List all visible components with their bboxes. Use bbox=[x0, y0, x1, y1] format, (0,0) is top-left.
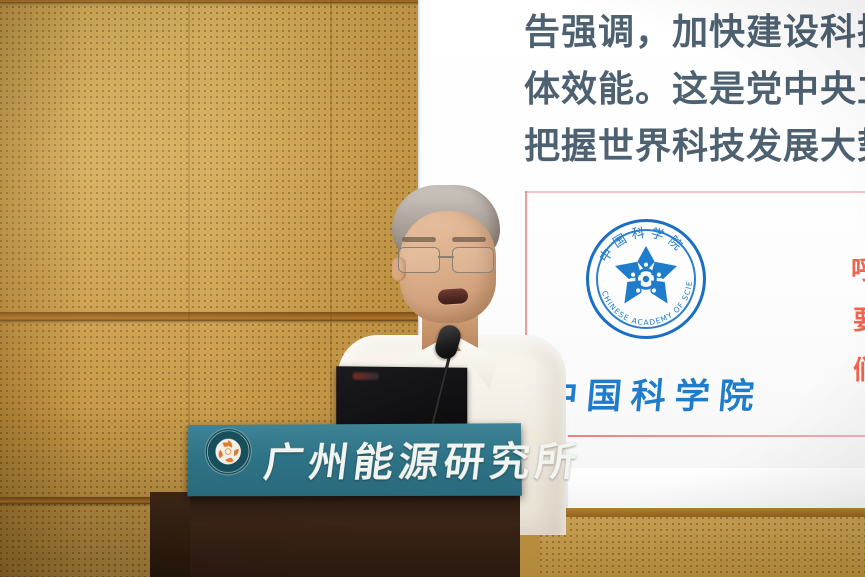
podium-sign-text: 广州能源研究所 bbox=[261, 429, 585, 488]
slide-text-block: 告强调，加快建设科技 体效能。这是党中央立 把握世界科技发展大势 bbox=[524, 4, 865, 175]
lower-wall-perforation bbox=[540, 517, 865, 577]
slide-red-fragment-2: 要 bbox=[853, 300, 865, 337]
slide-line-1: 告强调，加快建设科技 bbox=[524, 4, 865, 61]
slide-red-fragment-1: 呼 bbox=[851, 250, 865, 287]
slide-red-fragment-3: 们 bbox=[853, 350, 865, 387]
cas-logo-icon: 中国科学院 CHINESE ACADEMY OF SCIENCES bbox=[586, 219, 706, 339]
photo-scene: 告强调，加快建设科技 体效能。这是党中央立 把握世界科技发展大势 呼 要 们 bbox=[0, 0, 865, 577]
podium-sign-panel: 广州能源研究所 bbox=[187, 423, 522, 496]
speaker-eyebrow-right bbox=[452, 237, 486, 242]
giec-emblem-icon bbox=[204, 428, 252, 476]
speaker-mouth bbox=[438, 288, 469, 305]
slide-frame-top bbox=[525, 191, 865, 193]
slide-line-3: 把握世界科技发展大势 bbox=[524, 118, 865, 175]
laptop-screen-glint bbox=[353, 373, 379, 380]
podium-body bbox=[190, 488, 520, 577]
white-table-surface bbox=[540, 468, 865, 512]
cas-wordmark: 中国科学院 bbox=[541, 368, 765, 419]
svg-text:中国科学院: 中国科学院 bbox=[597, 225, 688, 265]
lower-wall-right bbox=[540, 517, 865, 577]
speaker-eyebrow-left bbox=[402, 237, 436, 242]
glasses-lens-left bbox=[398, 247, 440, 273]
speaker-glasses bbox=[396, 247, 502, 273]
cas-ring-text: 中国科学院 CHINESE ACADEMY OF SCIENCES bbox=[586, 219, 706, 339]
slide-line-2: 体效能。这是党中央立 bbox=[524, 61, 865, 118]
glasses-lens-right bbox=[452, 247, 494, 273]
